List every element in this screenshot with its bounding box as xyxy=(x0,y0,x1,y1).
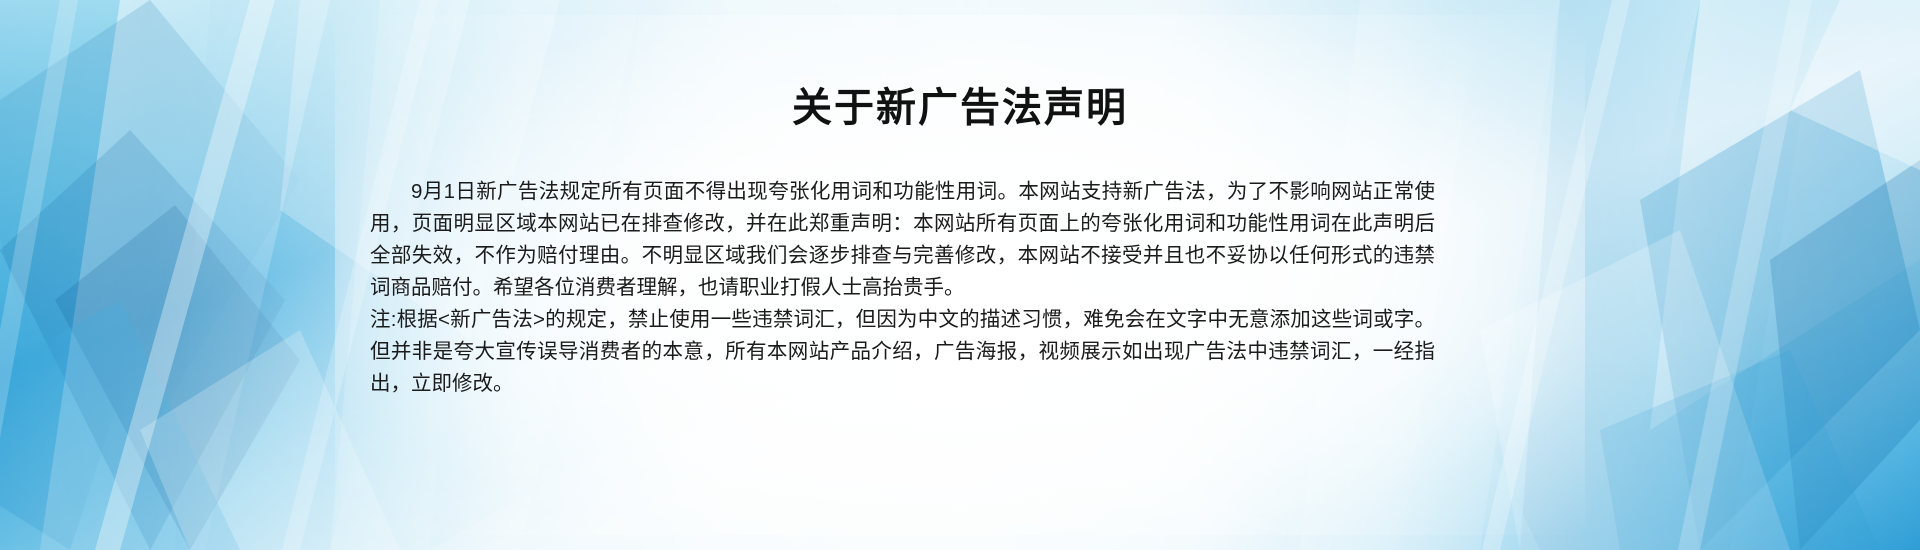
banner-content: 关于新广告法声明 9月1日新广告法规定所有页面不得出现夸张化用词和功能性用词。本… xyxy=(0,0,1920,550)
statement-paragraph-2: 注:根据<新广告法>的规定，禁止使用一些违禁词汇，但因为中文的描述习惯，难免会在… xyxy=(370,304,1435,400)
page-title: 关于新广告法声明 xyxy=(0,84,1920,132)
statement-paragraph-1: 9月1日新广告法规定所有页面不得出现夸张化用词和功能性用词。本网站支持新广告法，… xyxy=(370,176,1435,304)
advertising-law-statement-banner: 关于新广告法声明 9月1日新广告法规定所有页面不得出现夸张化用词和功能性用词。本… xyxy=(0,0,1920,550)
statement-body: 9月1日新广告法规定所有页面不得出现夸张化用词和功能性用词。本网站支持新广告法，… xyxy=(370,176,1435,400)
